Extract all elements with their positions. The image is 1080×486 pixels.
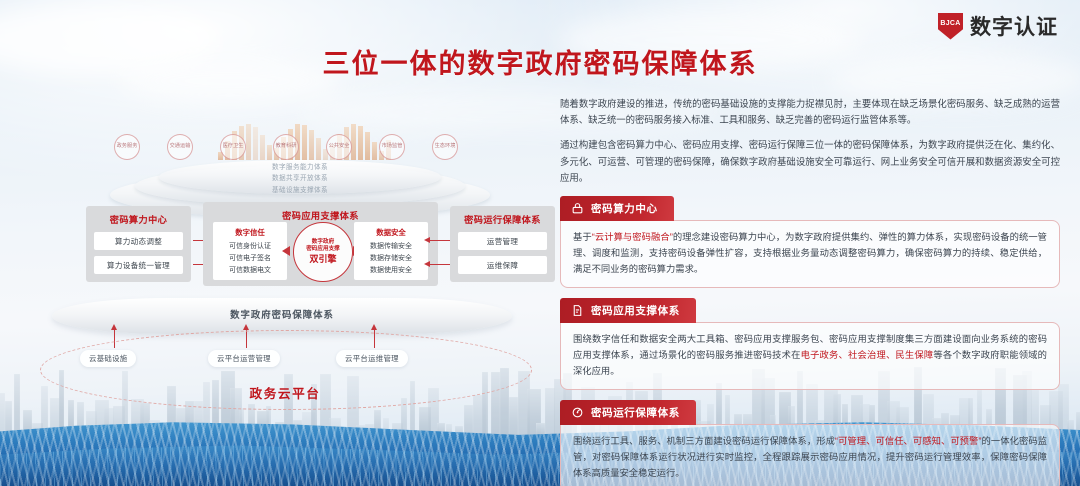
section-compute-center: 密码算力中心 基于“云计算与密码融合”的理念建设密码算力中心，为数字政府提供集约… [560,196,1060,288]
compute-center-box: 密码算力中心 算力动态调整 算力设备统一管理 [86,206,191,282]
architecture-diagram: 政务服务交通运输医疗卫生教育科研公共安全市场监管生态环境 数字服务能力体系 数据… [18,118,548,408]
engine-arrow-left [282,246,290,256]
digital-trust-title: 数字信任 [235,227,265,238]
section-title: 密码应用支撑体系 [591,303,680,318]
cloud-platform-item[interactable]: 云基础设施 [80,350,136,367]
shield-icon: BJCA [938,13,963,40]
operation-guarantee-title: 密码运行保障体系 [450,212,555,226]
arrow-left-head [424,261,430,267]
section-body-operation-guarantee: 围绕运行工具、服务、机制三方面建设密码运行保障体系，形成“可管理、可信任、可感知… [560,424,1060,486]
middle-row: 密码算力中心 算力动态调整 算力设备统一管理 密码应用支撑体系 数字信任 可信身… [18,206,548,292]
highlighted-phrase: “云计算与密码融合” [592,232,673,242]
monitor-radar-icon [571,406,584,419]
operation-guarantee-item[interactable]: 运维保障 [458,256,547,274]
cloud-platform-item[interactable]: 云平台运营管理 [208,350,280,367]
section-operation-guarantee: 密码运行保障体系 围绕运行工具、服务、机制三方面建设密码运行保障体系，形成“可管… [560,400,1060,486]
highlighted-phrase: 电子政务、社会治理、民生保障 [801,350,934,360]
section-body-application-support: 围绕数字信任和数据安全两大工具箱、密码应用支撑服务包、密码应用支撑制度集三方面建… [560,322,1060,390]
intro-paragraph-1: 随着数字政府建设的推进，传统的密码基础设施的支撑能力捉襟见肘，主要体现在缺乏场景… [560,96,1060,128]
section-body-compute-center: 基于“云计算与密码融合”的理念建设密码算力中心，为数字政府提供集约、弹性的算力体… [560,220,1060,288]
section-title: 密码运行保障体系 [591,405,680,420]
engine-line-3: 双引擎 [309,254,336,265]
guarantee-band-label: 数字政府密码保障体系 [52,307,512,321]
intro-paragraph-2: 通过构建包含密码算力中心、密码应用支撑、密码运行保障三位一体的密码保障体系，为数… [560,137,1060,186]
dual-engine-circle: 数字政府 密码应用支撑 双引擎 [293,222,353,282]
arrow-left-head [424,237,430,243]
data-security-panel: 数据安全 数据传输安全 数据存储安全 数据使用安全 [354,222,428,280]
section-application-support: 密码应用支撑体系 围绕数字信任和数据安全两大工具箱、密码应用支撑服务包、密码应用… [560,298,1060,390]
digital-trust-item: 可信数据电文 [229,265,271,277]
lock-icon [571,202,584,215]
engine-line-2: 密码应用支撑 [306,246,340,253]
application-support-title: 密码应用支撑体系 [203,208,438,222]
digital-trust-item: 可信身份认证 [229,241,271,253]
operation-guarantee-box: 密码运行保障体系 运营管理 运维保障 [450,206,555,282]
digital-trust-panel: 数字信任 可信身份认证 可信电子签名 可信数据电文 [213,222,287,280]
arrow-up-head [243,324,249,330]
document-shield-icon [571,304,584,317]
section-header-application-support[interactable]: 密码应用支撑体系 [560,298,696,323]
right-content-column: 随着数字政府建设的推进，传统的密码基础设施的支撑能力捉襟见肘，主要体现在缺乏场景… [560,96,1060,486]
engine-line-1: 数字政府 [312,239,334,246]
highlighted-phrase: “可管理、可信任、可感知、可预警” [835,436,982,446]
intro-block: 随着数字政府建设的推进，传统的密码基础设施的支撑能力捉襟见肘，主要体现在缺乏场景… [560,96,1060,186]
poster-canvas: BJCA 数字认证 三位一体的数字政府密码保障体系 随着数字政府建设的推进，传统… [0,0,1080,486]
data-security-item: 数据使用安全 [370,265,412,277]
cloud-platform-label: 政务云平台 [40,383,530,402]
disc-label-group: 数字服务能力体系 数据共享开放体系 基础设施支撑体系 [110,162,490,196]
compute-center-item[interactable]: 算力动态调整 [94,232,183,250]
operation-guarantee-item[interactable]: 运营管理 [458,232,547,250]
data-security-item: 数据传输安全 [370,241,412,253]
section-header-compute-center[interactable]: 密码算力中心 [560,196,674,221]
arrow-up-head [111,324,117,330]
disc-label: 基础设施支撑体系 [110,185,490,196]
disc-label: 数据共享开放体系 [110,173,490,184]
arrow-left-shaft [430,240,450,241]
brand-name: 数字认证 [970,11,1058,41]
compute-center-item[interactable]: 算力设备统一管理 [94,256,183,274]
compute-center-title: 密码算力中心 [86,212,191,226]
page-title: 三位一体的数字政府密码保障体系 [0,42,1080,81]
data-security-title: 数据安全 [376,227,406,238]
disc-label: 数字服务能力体系 [110,162,490,173]
section-header-operation-guarantee[interactable]: 密码运行保障体系 [560,400,696,425]
data-security-item: 数据存储安全 [370,253,412,265]
section-title: 密码算力中心 [591,201,658,216]
digital-trust-item: 可信电子签名 [229,253,271,265]
application-support-box: 密码应用支撑体系 数字信任 可信身份认证 可信电子签名 可信数据电文 数字政府 … [203,202,438,286]
arrow-left-shaft [430,264,450,265]
cloud-platform-item[interactable]: 云平台运维管理 [336,350,408,367]
brand-logo: BJCA 数字认证 [938,11,1058,41]
arrow-up-head [371,324,377,330]
